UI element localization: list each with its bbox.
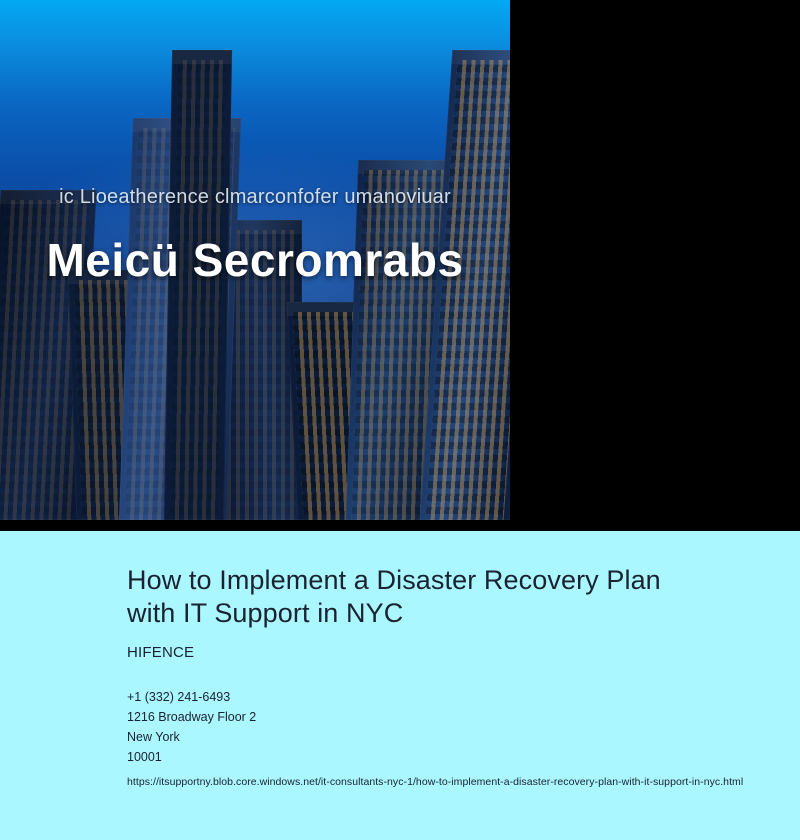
building-shape [164,50,232,520]
contact-block: +1 (332) 241-6493 1216 Broadway Floor 2 … [127,687,700,767]
phone-number: +1 (332) 241-6493 [127,687,700,707]
page-root: ic Lioeatherence clmarconfofer umanoviua… [0,0,800,840]
address-line-1: 1216 Broadway Floor 2 [127,707,700,727]
address-zip: 10001 [127,747,700,767]
building-windows [170,60,226,520]
source-url[interactable]: https://itsupportny.blob.core.windows.ne… [127,776,700,788]
address-city: New York [127,727,700,747]
brand-name: HIFENCE [127,644,700,661]
hero-image: ic Lioeatherence clmarconfofer umanoviua… [0,0,510,520]
page-title: How to Implement a Disaster Recovery Pla… [127,564,700,630]
info-panel-content: How to Implement a Disaster Recovery Pla… [0,531,800,788]
info-panel: How to Implement a Disaster Recovery Pla… [0,531,800,840]
